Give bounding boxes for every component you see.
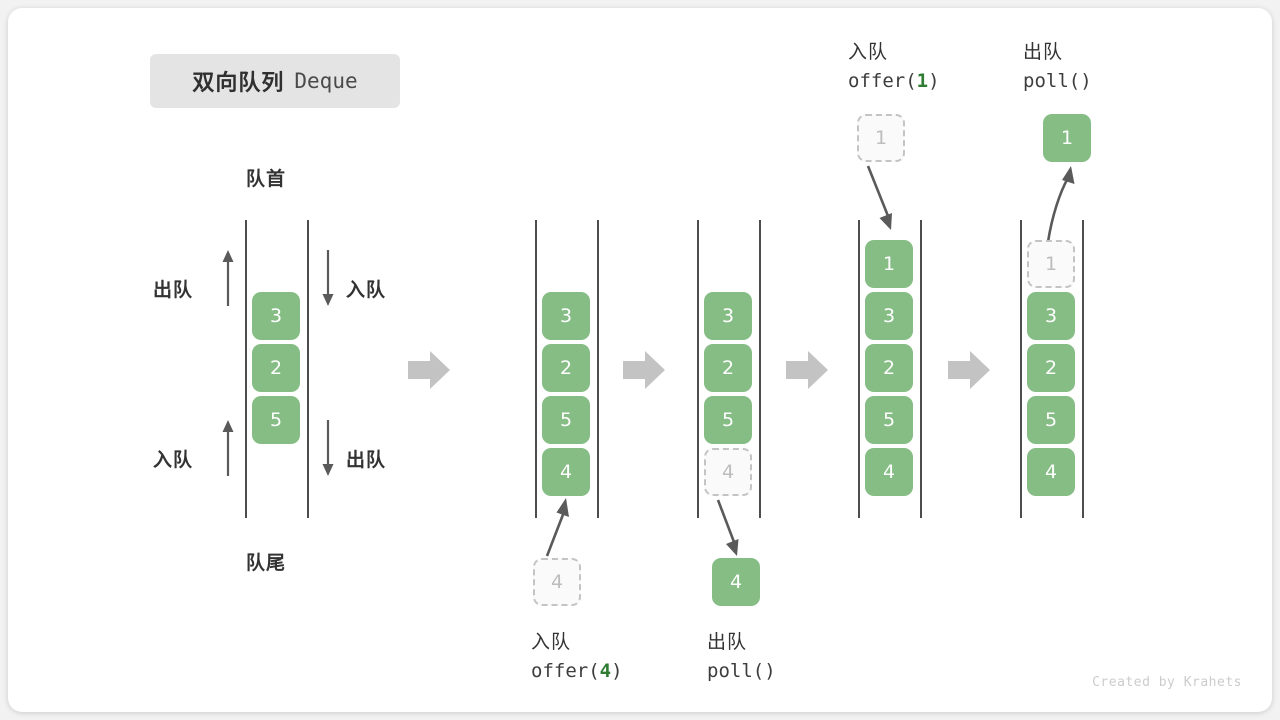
floating-ghost-box: 4 [533,558,581,606]
arrow-remove-head [1034,164,1094,244]
rail-right-col2 [597,220,599,518]
deque-item: 3 [865,292,913,340]
legend-dequeue-head: 出队 [153,275,193,302]
deque-item: 2 [252,344,300,392]
arrow-remove-tail [708,498,768,558]
deque-item: 2 [1027,344,1075,392]
code-prefix: poll( [1023,70,1080,92]
title-badge: 双向队列 Deque [150,54,400,108]
deque-item: 5 [704,396,752,444]
diagram-canvas: 双向队列 Deque 队首 队尾 3 2 5 出队 入队 入队 [0,0,1280,720]
legend-dequeue-tail: 出队 [346,445,386,472]
tail-label: 队尾 [246,548,286,575]
arrow-insert-tail [528,496,588,558]
caption-offer1: 入队 offer(1) [848,38,940,97]
rail-left-col3 [697,220,699,518]
deque-item: 3 [704,292,752,340]
caption-chinese: 入队 [848,38,940,67]
deque-item: 2 [704,344,752,392]
code-arg: 4 [600,660,611,682]
floating-ghost-box: 1 [857,114,905,162]
title-chinese: 双向队列 [192,65,284,97]
rail-right-col1 [307,220,309,518]
deque-item-new: 1 [865,240,913,288]
code-suffix: ) [764,660,775,682]
deque-item: 5 [252,396,300,444]
caption-chinese: 出队 [1023,38,1092,67]
deque-item-removed: 1 [1027,240,1075,288]
deque-item-removed: 4 [704,448,752,496]
watermark: Created by Krahets [1092,675,1242,690]
code-prefix: poll( [707,660,764,682]
caption-polltail: 出队 poll() [707,628,776,687]
caption-code: poll() [1023,67,1092,96]
arrow-up-tail-enqueue [216,418,240,478]
arrow-down-tail-dequeue [316,418,340,478]
code-suffix: ) [1080,70,1091,92]
code-suffix: ) [928,70,939,92]
transition-arrow-icon [408,348,452,392]
deque-item: 5 [865,396,913,444]
arrow-up-head-dequeue [216,248,240,308]
caption-chinese: 出队 [707,628,776,657]
rail-right-col3 [759,220,761,518]
deque-item: 3 [1027,292,1075,340]
deque-stack-polltail: 3 2 5 4 [704,292,752,496]
caption-code: offer(1) [848,67,940,96]
deque-stack-offer1: 1 3 2 5 4 [865,240,913,496]
arrow-insert-head [854,164,914,234]
code-arg: 1 [917,70,928,92]
caption-code: offer(4) [531,657,623,686]
caption-pollhead: 出队 poll() [1023,38,1092,97]
caption-code: poll() [707,657,776,686]
deque-item-new: 4 [542,448,590,496]
legend-enqueue-tail: 入队 [153,445,193,472]
deque-stack-initial: 3 2 5 [252,292,300,444]
deque-stack-offer4: 3 2 5 4 [542,292,590,496]
deque-item: 4 [1027,448,1075,496]
transition-arrow-icon [948,348,992,392]
deque-item: 5 [1027,396,1075,444]
arrow-down-head-enqueue [316,248,340,308]
deque-item: 2 [865,344,913,392]
code-suffix: ) [611,660,622,682]
rail-left-col4 [858,220,860,518]
deque-item: 5 [542,396,590,444]
caption-offer4: 入队 offer(4) [531,628,623,687]
deque-stack-pollhead: 1 3 2 5 4 [1027,240,1075,496]
title-english: Deque [294,69,357,93]
rail-left-col1 [245,220,247,518]
rail-left-col2 [535,220,537,518]
deque-item: 3 [252,292,300,340]
caption-chinese: 入队 [531,628,623,657]
deque-item: 3 [542,292,590,340]
code-prefix: offer( [848,70,917,92]
head-label: 队首 [246,164,286,191]
code-prefix: offer( [531,660,600,682]
diagram-card: 双向队列 Deque 队首 队尾 3 2 5 出队 入队 入队 [8,8,1272,712]
transition-arrow-icon [786,348,830,392]
rail-right-col4 [920,220,922,518]
transition-arrow-icon [623,348,667,392]
floating-result-box: 1 [1043,114,1091,162]
floating-result-box: 4 [712,558,760,606]
legend-enqueue-head: 入队 [346,275,386,302]
rail-right-col5 [1082,220,1084,518]
deque-item: 2 [542,344,590,392]
deque-item: 4 [865,448,913,496]
rail-left-col5 [1020,220,1022,518]
